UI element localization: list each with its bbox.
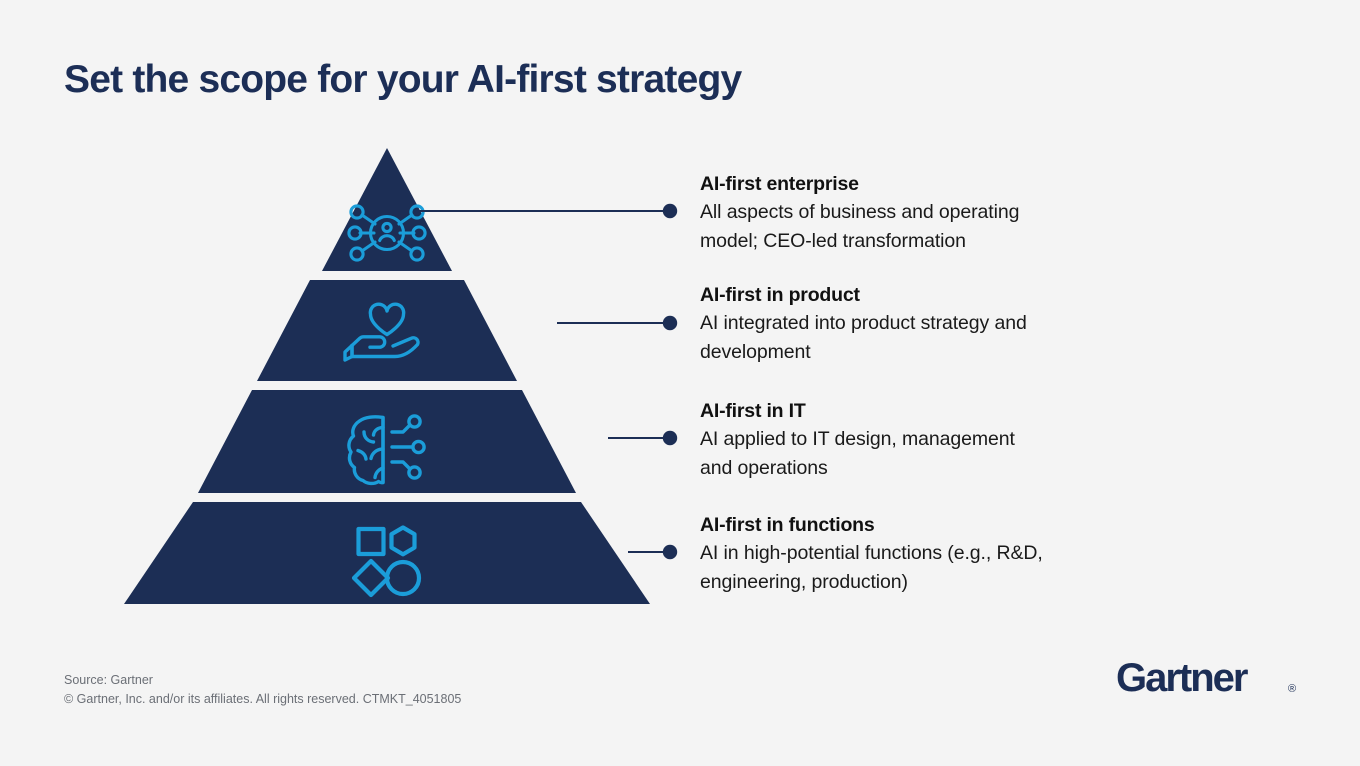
description-body-line: development xyxy=(700,338,1170,367)
description-block-ai-first-in-functions: AI-first in functions AI in high-potenti… xyxy=(700,513,1170,597)
description-heading: AI-first in functions xyxy=(700,513,1170,539)
connector-dot-4 xyxy=(664,546,676,558)
description-heading: AI-first enterprise xyxy=(700,172,1170,198)
connector-dot-1 xyxy=(664,205,676,217)
connector-lines xyxy=(0,0,700,700)
description-block-ai-first-in-it: AI-first in IT AI applied to IT design, … xyxy=(700,399,1170,483)
infographic-canvas: Set the scope for your AI-first strategy xyxy=(0,0,1360,766)
description-body-line: AI applied to IT design, management xyxy=(700,425,1170,454)
description-heading: AI-first in product xyxy=(700,283,1170,309)
registered-trademark-icon: ® xyxy=(1288,683,1296,695)
connector-dot-2 xyxy=(664,317,676,329)
gartner-logo: Gartner ® xyxy=(1116,659,1306,701)
gartner-logo-wordmark: Gartner xyxy=(1116,659,1248,700)
copyright-text: © Gartner, Inc. and/or its affiliates. A… xyxy=(64,690,461,709)
description-body-line: All aspects of business and operating xyxy=(700,198,1170,227)
description-block-ai-first-enterprise: AI-first enterprise All aspects of busin… xyxy=(700,172,1170,256)
description-body-line: engineering, production) xyxy=(700,568,1170,597)
source-text: Source: Gartner xyxy=(64,671,461,690)
description-body-line: AI in high-potential functions (e.g., R&… xyxy=(700,539,1170,568)
description-body-line: model; CEO-led transformation xyxy=(700,227,1170,256)
description-body-line: and operations xyxy=(700,454,1170,483)
description-body-line: AI integrated into product strategy and xyxy=(700,309,1170,338)
description-block-ai-first-in-product: AI-first in product AI integrated into p… xyxy=(700,283,1170,367)
connector-dot-3 xyxy=(664,432,676,444)
description-heading: AI-first in IT xyxy=(700,399,1170,425)
footer: Source: Gartner © Gartner, Inc. and/or i… xyxy=(64,671,461,708)
